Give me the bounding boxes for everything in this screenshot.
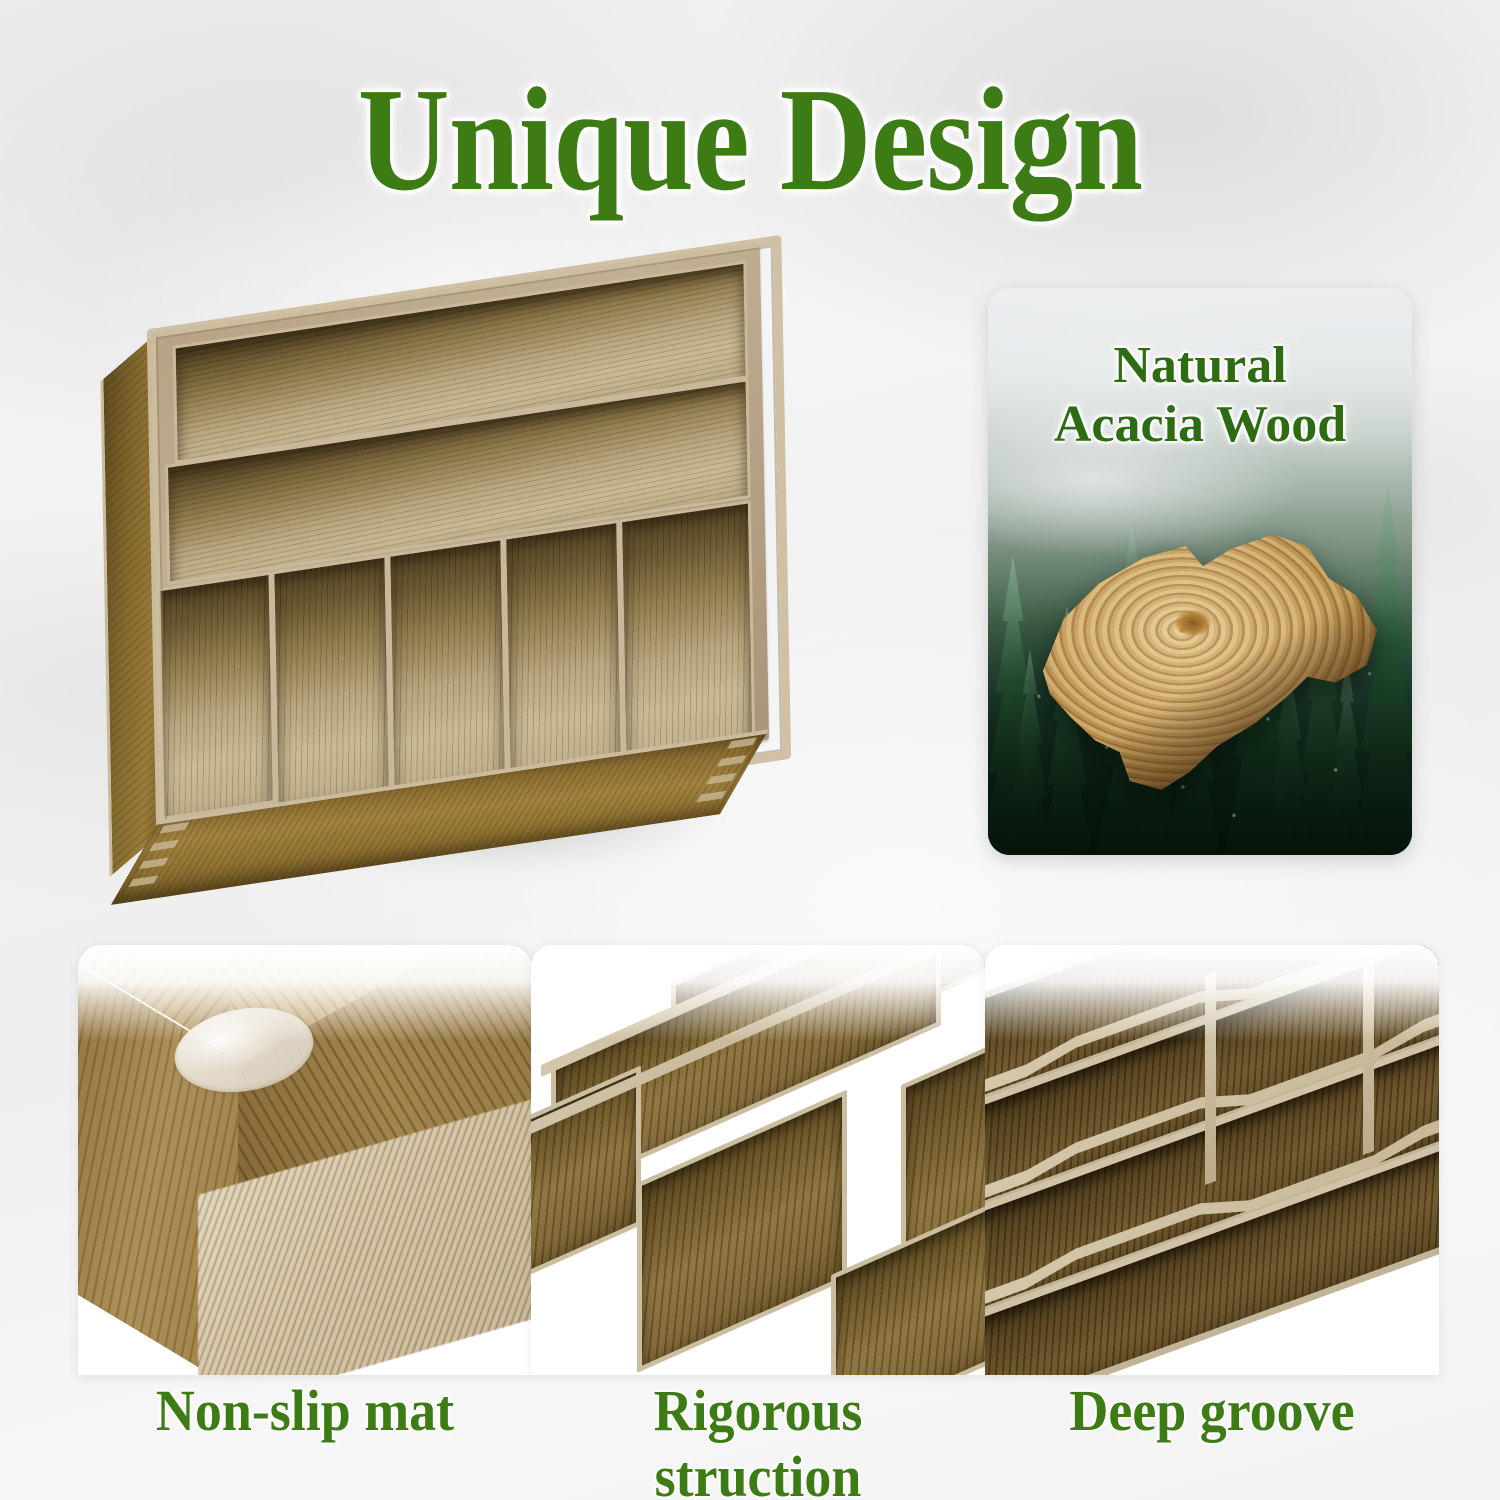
feature-card-row (0, 945, 1500, 1375)
non-slip-mat-photo (78, 945, 532, 1375)
tray-compartment-slot-2 (271, 554, 391, 807)
tray-compartment-slot-5 (619, 500, 755, 767)
groove-vertical-divider-1 (1205, 971, 1216, 1185)
rigorous-struction-photo (531, 945, 985, 1375)
forest-title-line-2: Acacia Wood (988, 395, 1412, 454)
groove-vertical-divider-2 (1363, 945, 1374, 1155)
caption-line-2: struction (547, 1444, 969, 1500)
forest-panel: Natural Acacia Wood (988, 288, 1412, 855)
wood-slice-image (1036, 520, 1384, 810)
feature-caption-deep-groove: Deep groove (1001, 1378, 1423, 1444)
wood-slice-bark (1036, 520, 1384, 810)
forest-panel-title: Natural Acacia Wood (988, 336, 1412, 455)
feature-caption-non-slip-mat: Non-slip mat (94, 1378, 516, 1444)
tray-compartment-slot-1 (156, 571, 276, 820)
feature-card-rigorous-struction (531, 945, 985, 1375)
tray-compartment-slot-4 (503, 520, 623, 781)
feature-caption-rigorous-struction: Rigorous struction (547, 1378, 969, 1500)
page-title: Unique Design (105, 66, 1395, 214)
deep-groove-photo (985, 945, 1439, 1375)
feature-card-non-slip-mat (78, 945, 532, 1375)
forest-title-line-1: Natural (988, 336, 1412, 395)
tray-compartment-slot-3 (387, 537, 507, 794)
feature-card-deep-groove (985, 945, 1439, 1375)
caption-line-1: Rigorous (547, 1378, 969, 1444)
infographic-stage: Unique Design (0, 0, 1500, 1500)
cutlery-tray (121, 214, 819, 885)
wood-slice-core (1175, 610, 1211, 636)
hero-product-image (120, 270, 880, 900)
